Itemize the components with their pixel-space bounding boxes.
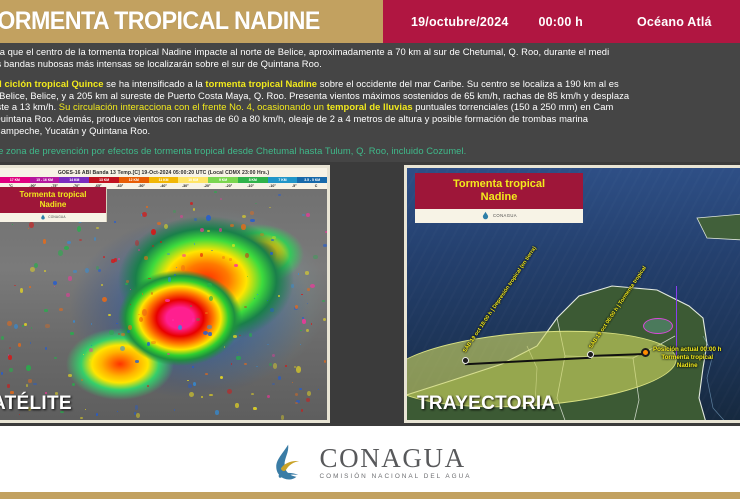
satellite-cloud-speck xyxy=(235,403,238,408)
bulletin-segment: Su circulación interacciona con el frent… xyxy=(59,101,327,112)
satellite-cloud-speck xyxy=(103,256,105,258)
satellite-cloud-speck xyxy=(165,299,170,302)
satellite-cloud-speck xyxy=(30,267,35,272)
header-basin: Océano Atlá xyxy=(637,15,712,29)
satellite-cloud-speck xyxy=(181,265,185,271)
satellite-tick-label: -30° xyxy=(174,184,196,188)
satellite-logo-text: CONAGUA xyxy=(48,215,66,219)
bulletin-line-8: lece zona de prevención por efectos de t… xyxy=(0,145,740,157)
satellite-cloud-speck xyxy=(172,319,174,321)
footer-organization: CONAGUA xyxy=(319,445,471,472)
satellite-cloud-speck xyxy=(151,341,155,344)
satellite-cloud-speck xyxy=(251,393,254,395)
satellite-cloud-speck xyxy=(192,318,195,321)
satellite-cloud-speck xyxy=(318,389,319,390)
bulletin-line-4: de Belice, Belice, y a 205 km al sureste… xyxy=(0,90,740,102)
satellite-cloud-speck xyxy=(135,360,139,362)
satellite-cloud-speck xyxy=(190,305,192,307)
satellite-cloud-speck xyxy=(305,271,309,275)
satellite-cloud-speck xyxy=(58,250,63,256)
satellite-cloud-speck xyxy=(188,384,191,389)
satellite-cloud-speck xyxy=(79,239,82,241)
prevention-zone-ellipse xyxy=(643,318,673,334)
bulletin-segment: puntuales torrenciales (150 a 250 mm) en… xyxy=(413,101,614,112)
bulletin-line-3: cial ciclón tropical Quince se ha intens… xyxy=(0,78,740,90)
trajectory-panel-caption: TRAYECTORIA xyxy=(417,393,555,415)
satellite-cloud-speck xyxy=(227,389,232,394)
satellite-cloud-speck xyxy=(203,331,208,335)
satellite-cloud-speck xyxy=(200,421,205,423)
track-point-marker-2[interactable] xyxy=(587,351,594,358)
satellite-cloud-speck xyxy=(7,384,10,388)
satellite-cloud-speck xyxy=(12,224,13,226)
header-bar: TORMENTA TROPICAL NADINE 19/octubre/2024… xyxy=(0,0,740,43)
satellite-overlay-label: Tormenta tropical Nadine CONAGUA xyxy=(0,187,107,222)
satellite-cloud-speck xyxy=(139,317,143,322)
satellite-cloud-speck xyxy=(192,366,194,368)
satellite-cloud-speck xyxy=(96,227,98,229)
bulletin-segment: de Belice, Belice, y a 205 km al sureste… xyxy=(0,90,629,101)
satellite-cloud-speck xyxy=(254,298,255,299)
bulletin-line-5: oeste a 13 km/h. Su circulación interacc… xyxy=(0,101,740,113)
satellite-cloud-speck xyxy=(193,208,195,210)
satellite-cloud-speck xyxy=(73,320,75,323)
satellite-cloud-speck xyxy=(270,308,274,312)
satellite-cloud-speck xyxy=(328,241,330,246)
satellite-cloud-speck xyxy=(196,318,200,321)
satellite-cloud-speck xyxy=(89,359,91,360)
satellite-cloud-speck xyxy=(9,368,12,372)
satellite-cloud-speck xyxy=(174,274,175,275)
satellite-cloud-speck xyxy=(269,207,271,208)
satellite-cloud-speck xyxy=(8,355,12,359)
satellite-cloud-speck xyxy=(214,191,216,193)
satellite-cloud-speck xyxy=(311,323,312,325)
satellite-cloud-speck xyxy=(324,360,326,363)
satellite-cloud-speck xyxy=(285,365,287,367)
satellite-cloud-speck xyxy=(175,420,179,423)
satellite-cloud-speck xyxy=(215,410,220,415)
satellite-cloud-speck xyxy=(26,365,31,371)
satellite-cloud-speck xyxy=(59,308,63,311)
satellite-cloud-speck xyxy=(328,256,329,257)
satellite-cloud-speck xyxy=(160,241,161,243)
bulletin-segment: oeste a 13 km/h. xyxy=(0,101,59,112)
bulletin-segment: tormenta tropical Nadine xyxy=(205,78,317,89)
satellite-cloud-speck xyxy=(300,330,301,331)
trajectory-overlay-label: Tormenta tropical Nadine CONAGUA xyxy=(415,173,583,223)
satellite-cloud-speck xyxy=(250,211,254,215)
water-drop-icon xyxy=(481,211,490,220)
trajectory-logo-text: CONAGUA xyxy=(493,213,517,218)
bulletin-segment: lece zona de prevención por efectos de t… xyxy=(0,145,466,156)
satellite-cloud-speck xyxy=(272,420,276,423)
satellite-tick-label: -5° xyxy=(283,184,305,188)
satellite-tick-label: -20° xyxy=(196,184,218,188)
satellite-cloud-speck xyxy=(45,324,50,327)
track-point-marker-1[interactable] xyxy=(462,357,469,364)
satellite-cloud-speck xyxy=(307,303,308,304)
satellite-tick-label: -60° xyxy=(109,184,131,188)
satellite-cloud-speck xyxy=(247,276,248,277)
satellite-cloud-speck xyxy=(134,412,136,414)
satellite-cloud-speck xyxy=(73,270,76,273)
satellite-cloud-speck xyxy=(20,288,24,293)
satellite-cloud-speck xyxy=(209,296,213,301)
satellite-cloud-speck xyxy=(182,254,186,257)
bulletin-page: TORMENTA TROPICAL NADINE 19/octubre/2024… xyxy=(0,0,740,499)
footer-tagline: COMISIÓN NACIONAL DEL AGUA xyxy=(319,473,471,480)
satellite-cloud-speck xyxy=(194,243,195,245)
satellite-cloud-speck xyxy=(68,374,71,377)
satellite-overlay-line1: Tormenta tropical xyxy=(4,190,102,200)
satellite-cloud-speck xyxy=(147,385,149,387)
satellite-cloud-speck xyxy=(187,380,188,381)
satellite-cloud-speck xyxy=(291,284,294,287)
trajectory-panel[interactable]: SÁB 19 oct 18:00 h | Depresión tropical … xyxy=(404,165,740,423)
bulletin-segment: sobre el occidente del mar Caribe. Su ce… xyxy=(317,78,619,89)
satellite-panel[interactable]: GOES-16 ABI Banda 13 Temp.[C] 19-Oct-202… xyxy=(0,165,330,423)
water-drop-icon xyxy=(40,214,46,220)
satellite-cloud-speck xyxy=(232,244,235,246)
satellite-tick-label: -10° xyxy=(262,184,284,188)
satellite-cloud-speck xyxy=(44,270,45,272)
footer-bar: CONAGUA COMISIÓN NACIONAL DEL AGUA xyxy=(0,426,740,499)
bulletin-segment: e Campeche, Yucatán y Quintana Roo. xyxy=(0,125,150,136)
footer-wordmark: CONAGUA COMISIÓN NACIONAL DEL AGUA xyxy=(319,445,471,480)
satellite-cloud-speck xyxy=(117,411,118,412)
trajectory-overlay-line1: Tormenta tropical xyxy=(419,178,579,191)
satellite-cloud-speck xyxy=(241,224,245,229)
satellite-cloud-speck xyxy=(67,241,71,244)
satellite-cloud-speck xyxy=(54,357,57,359)
satellite-cloud-speck xyxy=(111,259,115,263)
satellite-cloud-speck xyxy=(231,363,232,365)
satellite-overlay-label-box: Tormenta tropical Nadine xyxy=(0,187,106,213)
satellite-cloud-speck xyxy=(128,325,132,330)
satellite-cloud-speck xyxy=(81,379,83,381)
satellite-cloud-speck xyxy=(70,332,73,335)
satellite-cloud-speck xyxy=(270,252,273,255)
satellite-cloud-speck xyxy=(85,268,89,273)
satellite-cloud-speck xyxy=(24,323,27,326)
satellite-cloud-speck xyxy=(306,398,310,401)
satellite-cloud-speck xyxy=(28,379,31,382)
satellite-cloud-speck xyxy=(219,228,222,232)
satellite-cloud-speck xyxy=(301,294,303,295)
satellite-tick-label: -10° xyxy=(240,184,262,188)
satellite-cloud-speck xyxy=(295,305,298,309)
satellite-cloud-speck xyxy=(281,415,284,420)
satellite-cloud-speck xyxy=(211,250,212,251)
satellite-cloud-speck xyxy=(118,258,120,260)
satellite-cloud-speck xyxy=(267,395,270,398)
header-meta-container: 19/octubre/2024 00:00 h Océano Atlá xyxy=(383,0,740,43)
current-position-line1: Posición actual 00:00 h xyxy=(653,346,721,354)
satellite-cloud-speck xyxy=(44,309,47,312)
satellite-cloud-speck xyxy=(249,333,252,337)
satellite-cloud-speck xyxy=(255,203,257,205)
satellite-cloud-speck xyxy=(120,329,122,330)
page-title: TORMENTA TROPICAL NADINE xyxy=(0,7,320,36)
satellite-cloud-speck xyxy=(109,330,114,335)
satellite-cloud-speck xyxy=(271,239,274,241)
satellite-cloud-speck xyxy=(29,222,33,228)
satellite-cloud-speck xyxy=(208,332,211,337)
satellite-cloud-speck xyxy=(189,392,194,397)
satellite-cloud-speck xyxy=(127,330,130,333)
satellite-cloud-speck xyxy=(236,356,240,360)
bulletin-segment: temporal de lluvias xyxy=(327,101,413,112)
satellite-cloud-speck xyxy=(180,215,182,218)
bulletin-segment: se ha intensificado a la xyxy=(104,78,206,89)
satellite-cloud-speck xyxy=(168,277,172,281)
satellite-cloud-speck xyxy=(296,366,301,372)
satellite-cloud-speck xyxy=(173,210,175,212)
satellite-cloud-speck xyxy=(178,325,182,330)
satellite-cloud-speck xyxy=(220,376,223,379)
footer-accent-bar xyxy=(0,492,740,499)
satellite-cloud-speck xyxy=(278,295,280,297)
satellite-panel-caption: ATÉLITE xyxy=(0,393,72,415)
satellite-cloud-speck xyxy=(301,409,303,412)
trajectory-overlay-line2: Nadine xyxy=(419,191,579,204)
trajectory-conagua-logo: CONAGUA xyxy=(415,209,583,223)
satellite-cloud-speck xyxy=(7,321,11,326)
satellite-cloud-speck xyxy=(66,293,69,297)
satellite-cloud-speck xyxy=(1,372,3,375)
satellite-tick-label: -50° xyxy=(131,184,153,188)
trajectory-overlay-label-box: Tormenta tropical Nadine xyxy=(415,173,583,209)
satellite-cloud-speck xyxy=(272,236,276,239)
current-position-line2: Tormenta tropical xyxy=(653,354,721,362)
satellite-cloud-speck xyxy=(142,309,147,316)
satellite-cloud-speck xyxy=(142,212,147,217)
satellite-cloud-speck xyxy=(325,231,328,233)
satellite-cloud-speck xyxy=(273,363,278,369)
satellite-cloud-speck xyxy=(138,249,140,251)
bulletin-line-2: Las bandas nubosas más intensas se local… xyxy=(0,58,740,70)
satellite-product-header: GOES-16 ABI Banda 13 Temp.[C] 19-Oct-202… xyxy=(0,168,327,177)
satellite-cloud-speck xyxy=(144,256,148,260)
header-title-container: TORMENTA TROPICAL NADINE xyxy=(0,0,383,43)
satellite-conagua-logo: CONAGUA xyxy=(0,213,106,221)
satellite-cloud-speck xyxy=(294,366,296,368)
bulletin-text-block: pera que el centro de la tormenta tropic… xyxy=(0,43,740,162)
bulletin-segment: cial ciclón tropical Quince xyxy=(0,78,104,89)
satellite-cloud-speck xyxy=(120,346,125,351)
satellite-tick-label: -40° xyxy=(153,184,175,188)
satellite-cloud-speck xyxy=(53,281,57,285)
satellite-tick-label: C xyxy=(305,184,327,188)
satellite-cloud-speck xyxy=(116,323,118,324)
satellite-cloud-speck xyxy=(322,300,324,303)
satellite-cloud-speck xyxy=(136,413,140,418)
conagua-wave-drop-icon xyxy=(268,441,312,485)
satellite-cloud-speck xyxy=(167,353,170,355)
conagua-logo: CONAGUA COMISIÓN NACIONAL DEL AGUA xyxy=(268,441,471,485)
bulletin-line-6: y Quintana Roo. Además, produce vientos … xyxy=(0,113,740,125)
current-position-label: Posición actual 00:00 h Tormenta tropica… xyxy=(653,346,721,370)
satellite-tick-label: -20° xyxy=(218,184,240,188)
current-position-marker[interactable] xyxy=(641,348,650,357)
bulletin-segment: pera que el centro de la tormenta tropic… xyxy=(0,46,609,57)
bulletin-line-7: e Campeche, Yucatán y Quintana Roo. xyxy=(0,125,740,137)
bulletin-segment: y Quintana Roo. Además, produce vientos … xyxy=(0,113,588,124)
satellite-cloud-speck xyxy=(233,335,237,338)
satellite-cloud-speck xyxy=(272,354,275,357)
bulletin-segment: Las bandas nubosas más intensas se local… xyxy=(0,58,322,69)
satellite-cloud-speck xyxy=(222,256,225,259)
current-position-line3: Nadine xyxy=(653,362,721,370)
satellite-cloud-speck xyxy=(80,417,82,419)
satellite-cloud-speck xyxy=(96,266,99,270)
satellite-cloud-speck xyxy=(135,240,139,246)
header-date: 19/octubre/2024 xyxy=(411,15,509,29)
satellite-cloud-speck xyxy=(114,221,116,223)
satellite-cloud-speck xyxy=(298,273,299,274)
bulletin-line-1: pera que el centro de la tormenta tropic… xyxy=(0,46,740,58)
satellite-overlay-line2: Nadine xyxy=(4,200,102,210)
satellite-cloud-speck xyxy=(229,258,232,260)
satellite-cloud-speck xyxy=(250,219,254,222)
header-time: 00:00 h xyxy=(539,15,583,29)
